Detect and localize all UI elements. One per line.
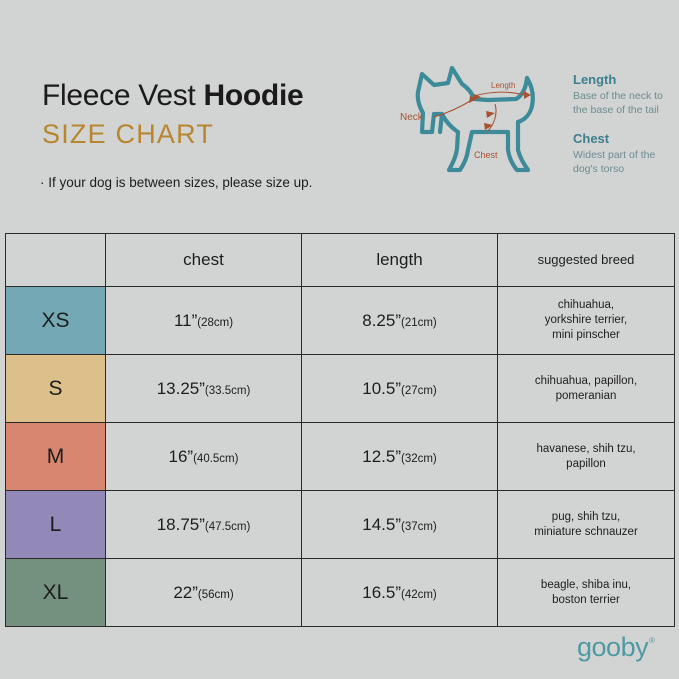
- title-block: Fleece Vest Hoodie SIZE CHART: [42, 78, 303, 151]
- chest-inches: 18.75”: [157, 515, 205, 534]
- chest-inches: 22”: [173, 583, 198, 602]
- chest-centimeters: (33.5cm): [205, 385, 250, 397]
- length-inches: 10.5”: [362, 379, 401, 398]
- length-cell: 10.5”(27cm): [302, 355, 498, 423]
- length-cell: 12.5”(32cm): [302, 423, 498, 491]
- chest-centimeters: (47.5cm): [205, 521, 250, 533]
- table-row: XL22”(56cm)16.5”(42cm)beagle, shiba inu,…: [6, 559, 675, 627]
- size-swatch-cell: S: [6, 355, 106, 423]
- table-row: XS11”(28cm)8.25”(21cm)chihuahua,yorkshir…: [6, 287, 675, 355]
- brand-logo: gooby ®: [577, 634, 655, 661]
- chest-value: 16”(40.5cm): [169, 447, 239, 466]
- page-subtitle: SIZE CHART: [42, 118, 303, 151]
- header-length-label: length: [376, 250, 422, 269]
- chest-label: Chest: [474, 150, 498, 160]
- table-row: L18.75”(47.5cm)14.5”(37cm)pug, shih tzu,…: [6, 491, 675, 559]
- length-value: 14.5”(37cm): [362, 515, 437, 534]
- header-chest-label: chest: [183, 250, 224, 269]
- chest-centimeters: (40.5cm): [193, 453, 238, 465]
- length-measure-line: [474, 92, 524, 96]
- chest-inches: 13.25”: [157, 379, 205, 398]
- header-size: [6, 234, 106, 287]
- breed-cell: chihuahua,yorkshire terrier,mini pinsche…: [498, 287, 675, 355]
- length-centimeters: (21cm): [401, 317, 437, 329]
- table-row: M16”(40.5cm)12.5”(32cm)havanese, shih tz…: [6, 423, 675, 491]
- length-value: 12.5”(32cm): [362, 447, 437, 466]
- chest-inches: 16”: [169, 447, 194, 466]
- length-inches: 8.25”: [362, 311, 401, 330]
- size-swatch-cell: XS: [6, 287, 106, 355]
- header-chest: chest: [106, 234, 302, 287]
- length-inches: 14.5”: [362, 515, 401, 534]
- size-label: S: [48, 377, 62, 400]
- breed-list: chihuahua,yorkshire terrier,mini pinsche…: [498, 298, 674, 343]
- size-label: XS: [41, 309, 69, 332]
- size-chart-table: chest length suggested breed XS11”(28cm)…: [5, 233, 675, 627]
- chest-value: 22”(56cm): [173, 583, 233, 602]
- size-label: L: [50, 513, 62, 536]
- length-value: 10.5”(27cm): [362, 379, 437, 398]
- page-title-thin: Fleece Vest: [42, 79, 204, 112]
- legend-title-length: Length: [573, 71, 677, 88]
- header-breed-label: suggested breed: [538, 252, 635, 267]
- header-breed: suggested breed: [498, 234, 675, 287]
- breed-cell: beagle, shiba inu,boston terrier: [498, 559, 675, 627]
- neck-label: Neck: [400, 112, 424, 123]
- chest-cell: 11”(28cm): [106, 287, 302, 355]
- length-label: Length: [491, 81, 515, 90]
- chest-centimeters: (56cm): [198, 589, 234, 601]
- table-header-row: chest length suggested breed: [6, 234, 675, 287]
- size-swatch-cell: XL: [6, 559, 106, 627]
- length-cell: 16.5”(42cm): [302, 559, 498, 627]
- legend-title-chest: Chest: [573, 130, 677, 147]
- legend-group-length: Length Base of the neck to the base of t…: [573, 71, 677, 117]
- page-title-bold: Hoodie: [204, 79, 304, 112]
- chest-inches: 11”: [174, 311, 197, 330]
- table-header: chest length suggested breed: [6, 234, 675, 287]
- chest-centimeters: (28cm): [197, 317, 233, 329]
- size-swatch-cell: M: [6, 423, 106, 491]
- legend-desc-chest: Widest part of the dog's torso: [573, 148, 677, 176]
- chest-cell: 13.25”(33.5cm): [106, 355, 302, 423]
- size-label: M: [47, 445, 65, 468]
- legend-desc-length: Base of the neck to the base of the tail: [573, 89, 677, 117]
- brand-logo-word: gooby: [577, 634, 648, 661]
- table-body: XS11”(28cm)8.25”(21cm)chihuahua,yorkshir…: [6, 287, 675, 627]
- breed-cell: chihuahua, papillon,pomeranian: [498, 355, 675, 423]
- measurement-legend: Length Base of the neck to the base of t…: [573, 71, 677, 176]
- breed-list: beagle, shiba inu,boston terrier: [498, 578, 674, 608]
- dog-measurement-diagram: Neck Length Chest: [396, 58, 572, 186]
- chest-cell: 22”(56cm): [106, 559, 302, 627]
- breed-list: pug, shih tzu,miniature schnauzer: [498, 510, 674, 540]
- length-centimeters: (37cm): [401, 521, 437, 533]
- length-inches: 12.5”: [362, 447, 401, 466]
- length-centimeters: (32cm): [401, 453, 437, 465]
- chest-value: 11”(28cm): [174, 311, 233, 330]
- header-length: length: [302, 234, 498, 287]
- length-centimeters: (42cm): [401, 589, 437, 601]
- breed-list: chihuahua, papillon,pomeranian: [498, 374, 674, 404]
- length-centimeters: (27cm): [401, 385, 437, 397]
- breed-list: havanese, shih tzu,papillon: [498, 442, 674, 472]
- table-row: S13.25”(33.5cm)10.5”(27cm)chihuahua, pap…: [6, 355, 675, 423]
- sizing-note: · If your dog is between sizes, please s…: [40, 175, 312, 190]
- chest-cell: 16”(40.5cm): [106, 423, 302, 491]
- page-title: Fleece Vest Hoodie: [42, 78, 303, 114]
- breed-cell: havanese, shih tzu,papillon: [498, 423, 675, 491]
- size-swatch-cell: L: [6, 491, 106, 559]
- length-cell: 8.25”(21cm): [302, 287, 498, 355]
- chest-value: 13.25”(33.5cm): [157, 379, 251, 398]
- chest-cell: 18.75”(47.5cm): [106, 491, 302, 559]
- length-cell: 14.5”(37cm): [302, 491, 498, 559]
- legend-group-chest: Chest Widest part of the dog's torso: [573, 130, 677, 176]
- length-inches: 16.5”: [362, 583, 401, 602]
- page-header: Fleece Vest Hoodie SIZE CHART · If your …: [0, 0, 679, 233]
- registered-trademark-icon: ®: [649, 636, 655, 645]
- chest-value: 18.75”(47.5cm): [157, 515, 251, 534]
- length-value: 16.5”(42cm): [362, 583, 437, 602]
- length-value: 8.25”(21cm): [362, 311, 437, 330]
- size-label: XL: [43, 581, 69, 604]
- breed-cell: pug, shih tzu,miniature schnauzer: [498, 491, 675, 559]
